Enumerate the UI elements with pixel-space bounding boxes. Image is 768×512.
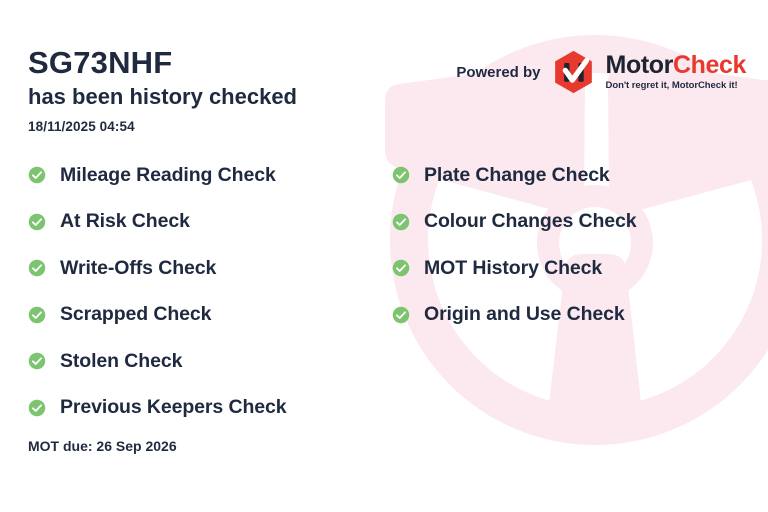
check-circle-icon	[28, 213, 46, 231]
check-item-label: Stolen Check	[60, 350, 182, 373]
motorcheck-hex-logo-icon	[553, 50, 594, 94]
check-list-right: Plate Change Check Colour Changes Check …	[392, 152, 742, 338]
wordmark-motor: Motor	[606, 51, 673, 79]
check-circle-icon	[28, 352, 46, 370]
history-check-summary-card: SG73NHF has been history checked 18/11/2…	[0, 0, 768, 512]
check-timestamp: 18/11/2025 04:54	[28, 119, 297, 134]
check-circle-icon	[392, 166, 410, 184]
check-item: Plate Change Check	[392, 152, 742, 199]
check-item: At Risk Check	[28, 199, 378, 246]
check-item-label: Colour Changes Check	[424, 210, 637, 233]
check-list-left: Mileage Reading Check At Risk Check Writ…	[28, 152, 378, 431]
check-item-label: Mileage Reading Check	[60, 164, 276, 187]
check-circle-icon	[392, 306, 410, 324]
check-item-label: Previous Keepers Check	[60, 396, 287, 419]
check-item: Scrapped Check	[28, 292, 378, 339]
check-circle-icon	[28, 259, 46, 277]
check-item-label: Origin and Use Check	[424, 303, 625, 326]
wordmark-check: Check	[673, 51, 746, 79]
motorcheck-wordmark: MotorCheck Don't regret it, MotorCheck i…	[606, 53, 746, 91]
check-item: Colour Changes Check	[392, 199, 742, 246]
page-title: has been history checked	[28, 84, 297, 110]
powered-by-block: Powered by MotorCheck Don't regret it, M…	[456, 50, 746, 94]
check-circle-icon	[392, 213, 410, 231]
check-item: MOT History Check	[392, 245, 742, 292]
check-circle-icon	[392, 259, 410, 277]
check-circle-icon	[28, 166, 46, 184]
check-item-label: At Risk Check	[60, 210, 190, 233]
header-block: SG73NHF has been history checked 18/11/2…	[28, 46, 297, 134]
check-item-label: Plate Change Check	[424, 164, 610, 187]
check-item: Write-Offs Check	[28, 245, 378, 292]
mot-due-text: MOT due: 26 Sep 2026	[28, 438, 177, 454]
brand-tagline: Don't regret it, MotorCheck it!	[606, 81, 746, 91]
registration-plate: SG73NHF	[28, 46, 297, 81]
check-item: Previous Keepers Check	[28, 385, 378, 432]
check-item: Origin and Use Check	[392, 292, 742, 339]
check-item-label: Write-Offs Check	[60, 257, 216, 280]
check-item: Mileage Reading Check	[28, 152, 378, 199]
check-circle-icon	[28, 306, 46, 324]
check-item-label: MOT History Check	[424, 257, 602, 280]
powered-by-label: Powered by	[456, 64, 540, 81]
check-item: Stolen Check	[28, 338, 378, 385]
check-circle-icon	[28, 399, 46, 417]
check-item-label: Scrapped Check	[60, 303, 211, 326]
